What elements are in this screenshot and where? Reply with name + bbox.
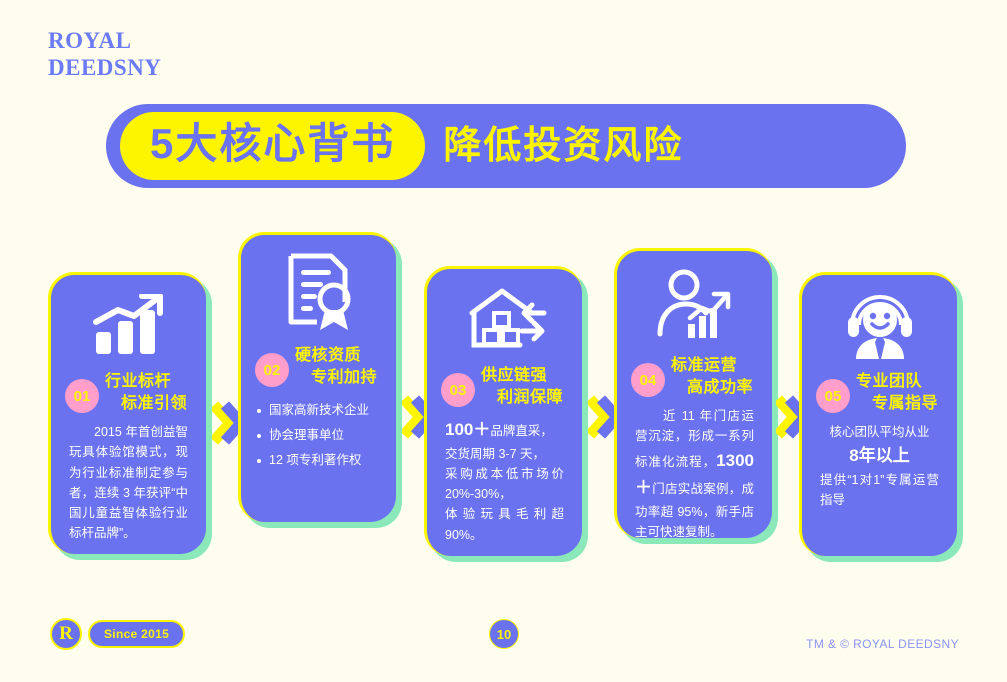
card-03-title-row: 03 供应链强 利润保障 bbox=[439, 365, 570, 408]
card-04-body: 近 11 年门店运营沉淀，形成一系列标准化流程，1300＋门店实战案例，成功率超… bbox=[629, 406, 760, 542]
card-03-text-1: 品牌直采， bbox=[490, 424, 553, 438]
card-01-title-line2: 标准引领 bbox=[105, 393, 187, 415]
since-badge: Since 2015 bbox=[88, 620, 185, 648]
card-03-title-line2: 利润保障 bbox=[481, 387, 563, 409]
card-04[interactable]: 04 标准运营 高成功率 近 11 年门店运营沉淀，形成一系列标准化流程，130… bbox=[614, 248, 772, 538]
bar-chart-growth-icon bbox=[63, 287, 194, 365]
card-02-badge: 02 bbox=[255, 353, 289, 387]
card-01-title-row: 01 行业标杆 标准引领 bbox=[63, 371, 194, 414]
card-03-title-line1: 供应链强 bbox=[481, 367, 547, 384]
card-02-title-line1: 硬核资质 bbox=[295, 347, 361, 364]
card-03-body: 100＋品牌直采， 交货周期 3-7 天， 采购成本低市场价 20%-30%， … bbox=[439, 416, 570, 545]
card-05-line-1: 核心团队平均从业 bbox=[820, 422, 939, 442]
slide-canvas: ROYAL DEEDSNY 5大核心背书 降低投资风险 01 bbox=[0, 0, 1007, 682]
card-02-title-row: 02 硬核资质 专利加持 bbox=[253, 345, 384, 388]
card-01[interactable]: 01 行业标杆 标准引领 2015 年首创益智玩具体验馆模式，现为行业标准制定参… bbox=[48, 272, 206, 554]
card-04-title-line2: 高成功率 bbox=[671, 377, 753, 399]
card-02[interactable]: 02 硬核资质 专利加持 国家高新技术企业 协会理事单位 12 项专利著作权 bbox=[238, 232, 396, 522]
card-01-body: 2015 年首创益智玩具体验馆模式，现为行业标准制定参与者，连续 3 年获评“中… bbox=[63, 422, 194, 544]
card-01-body-text: 2015 年首创益智玩具体验馆模式，现为行业标准制定参与者，连续 3 年获评“中… bbox=[69, 422, 188, 544]
card-05-title-line1: 专业团队 bbox=[856, 373, 922, 390]
card-04-badge: 04 bbox=[631, 363, 665, 397]
card-05-title: 专业团队 专属指导 bbox=[856, 371, 938, 414]
card-02-bullet-list: 国家高新技术企业 协会理事单位 12 项专利著作权 bbox=[253, 398, 384, 473]
card-04-text-2: 门店实战案例，成功率超 95%，新手店主可快速复制。 bbox=[635, 482, 754, 539]
card-05-body: 核心团队平均从业 8年以上 提供“1对1”专属运营指导 bbox=[814, 422, 945, 510]
list-item: 国家高新技术企业 bbox=[257, 398, 380, 423]
footer-logo-badge: R bbox=[50, 618, 82, 650]
card-01-title: 行业标杆 标准引领 bbox=[105, 371, 187, 414]
card-03-line-3: 采购成本低市场价 20%-30%， bbox=[445, 464, 564, 505]
page-number-badge: 10 bbox=[489, 619, 519, 649]
list-item: 12 项专利著作权 bbox=[257, 448, 380, 473]
card-05-title-line2: 专属指导 bbox=[856, 393, 938, 415]
card-03-badge: 03 bbox=[441, 373, 475, 407]
headset-support-agent-icon bbox=[814, 287, 945, 365]
card-03-line-2: 交货周期 3-7 天， bbox=[445, 444, 564, 464]
footer-brand: R Since 2015 bbox=[50, 618, 185, 650]
card-03-line-4: 体验玩具毛利超 90%。 bbox=[445, 504, 564, 545]
card-03-metric-1: 100＋ bbox=[445, 420, 490, 439]
warehouse-supply-icon bbox=[439, 281, 570, 359]
card-05-badge: 05 bbox=[816, 379, 850, 413]
cards-row: 01 行业标杆 标准引领 2015 年首创益智玩具体验馆模式，现为行业标准制定参… bbox=[0, 0, 1007, 682]
card-05-title-row: 05 专业团队 专属指导 bbox=[814, 371, 945, 414]
card-04-paragraph: 近 11 年门店运营沉淀，形成一系列标准化流程，1300＋门店实战案例，成功率超… bbox=[635, 406, 754, 542]
person-growth-chart-icon bbox=[629, 263, 760, 349]
card-03[interactable]: 03 供应链强 利润保障 100＋品牌直采， 交货周期 3-7 天， 采购成本低… bbox=[424, 266, 582, 556]
card-02-title-line2: 专利加持 bbox=[295, 367, 377, 389]
card-01-badge: 01 bbox=[65, 379, 99, 413]
card-04-title-line1: 标准运营 bbox=[671, 357, 737, 374]
card-03-line-1: 100＋品牌直采， bbox=[445, 416, 564, 444]
trademark-notice: TM & © ROYAL DEEDSNY bbox=[806, 637, 959, 651]
certificate-award-icon bbox=[253, 247, 384, 339]
card-02-title: 硬核资质 专利加持 bbox=[295, 345, 377, 388]
card-05-line-3: 提供“1对1”专属运营指导 bbox=[820, 470, 939, 511]
card-05[interactable]: 05 专业团队 专属指导 核心团队平均从业 8年以上 提供“1对1”专属运营指导 bbox=[799, 272, 957, 556]
card-01-title-line1: 行业标杆 bbox=[105, 373, 171, 390]
list-item: 协会理事单位 bbox=[257, 423, 380, 448]
card-03-title: 供应链强 利润保障 bbox=[481, 365, 563, 408]
card-04-title: 标准运营 高成功率 bbox=[671, 355, 753, 398]
card-05-metric: 8年以上 bbox=[820, 442, 939, 470]
card-04-title-row: 04 标准运营 高成功率 bbox=[629, 355, 760, 398]
